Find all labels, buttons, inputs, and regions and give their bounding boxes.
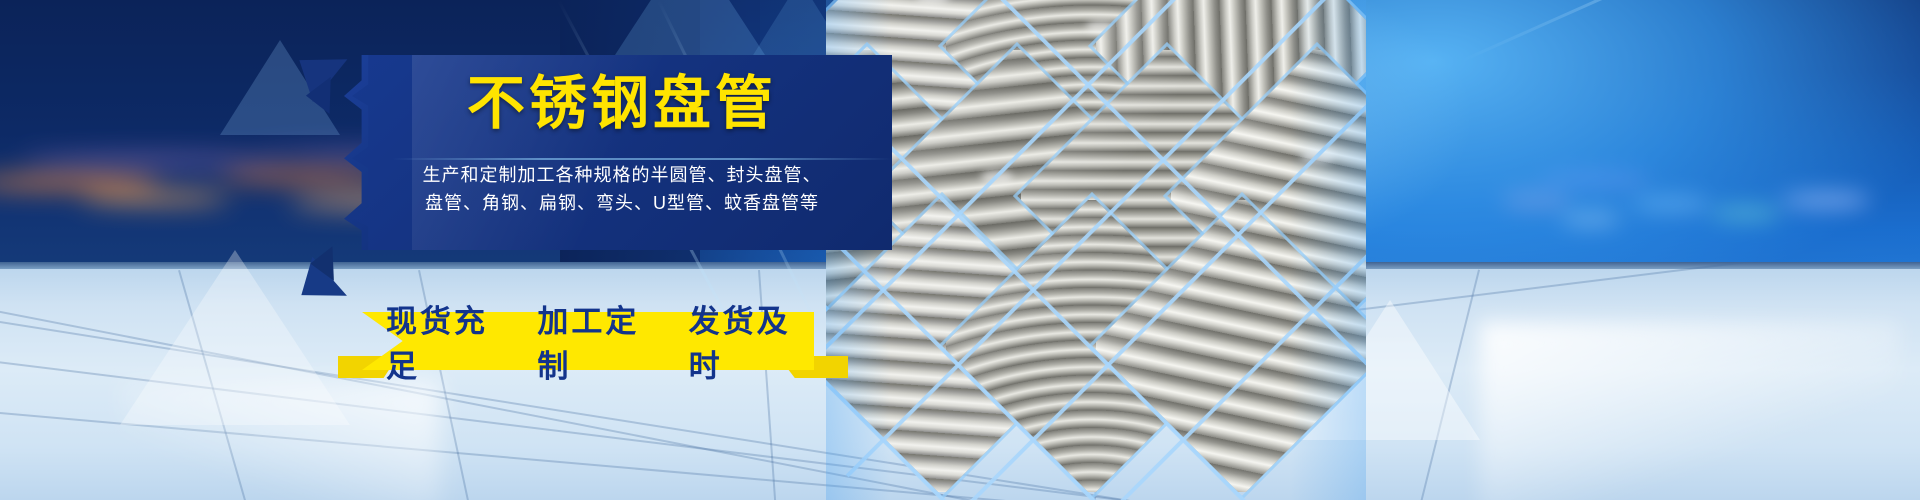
subtitle-line-2: 盘管、角钢、扁钢、弯头、U型管、蚊香盘管等	[352, 189, 892, 217]
subtitle-line-1: 生产和定制加工各种规格的半圆管、封头盘管、	[352, 161, 892, 189]
product-hero-banner: 不锈钢盘管 生产和定制加工各种规格的半圆管、封头盘管、 盘管、角钢、扁钢、弯头、…	[0, 0, 1920, 500]
slogan-item-2: 加工定制	[537, 296, 662, 386]
slogan-item-1: 现货充足	[386, 296, 511, 386]
banner-title: 不锈钢盘管	[352, 65, 892, 143]
slogan-list: 现货充足 加工定制 发货及时	[362, 312, 814, 370]
headline-panel: 不锈钢盘管 生产和定制加工各种规格的半圆管、封头盘管、 盘管、角钢、扁钢、弯头、…	[352, 55, 892, 250]
slogan-ribbon: 现货充足 加工定制 发货及时	[362, 312, 814, 370]
panel-divider	[392, 158, 892, 160]
banner-subtitle: 生产和定制加工各种规格的半圆管、封头盘管、 盘管、角钢、扁钢、弯头、U型管、蚊香…	[352, 161, 892, 217]
slogan-item-3: 发货及时	[689, 296, 814, 386]
floor-light-reflection-right	[1480, 322, 1900, 500]
product-photo-collage	[826, 0, 1366, 500]
